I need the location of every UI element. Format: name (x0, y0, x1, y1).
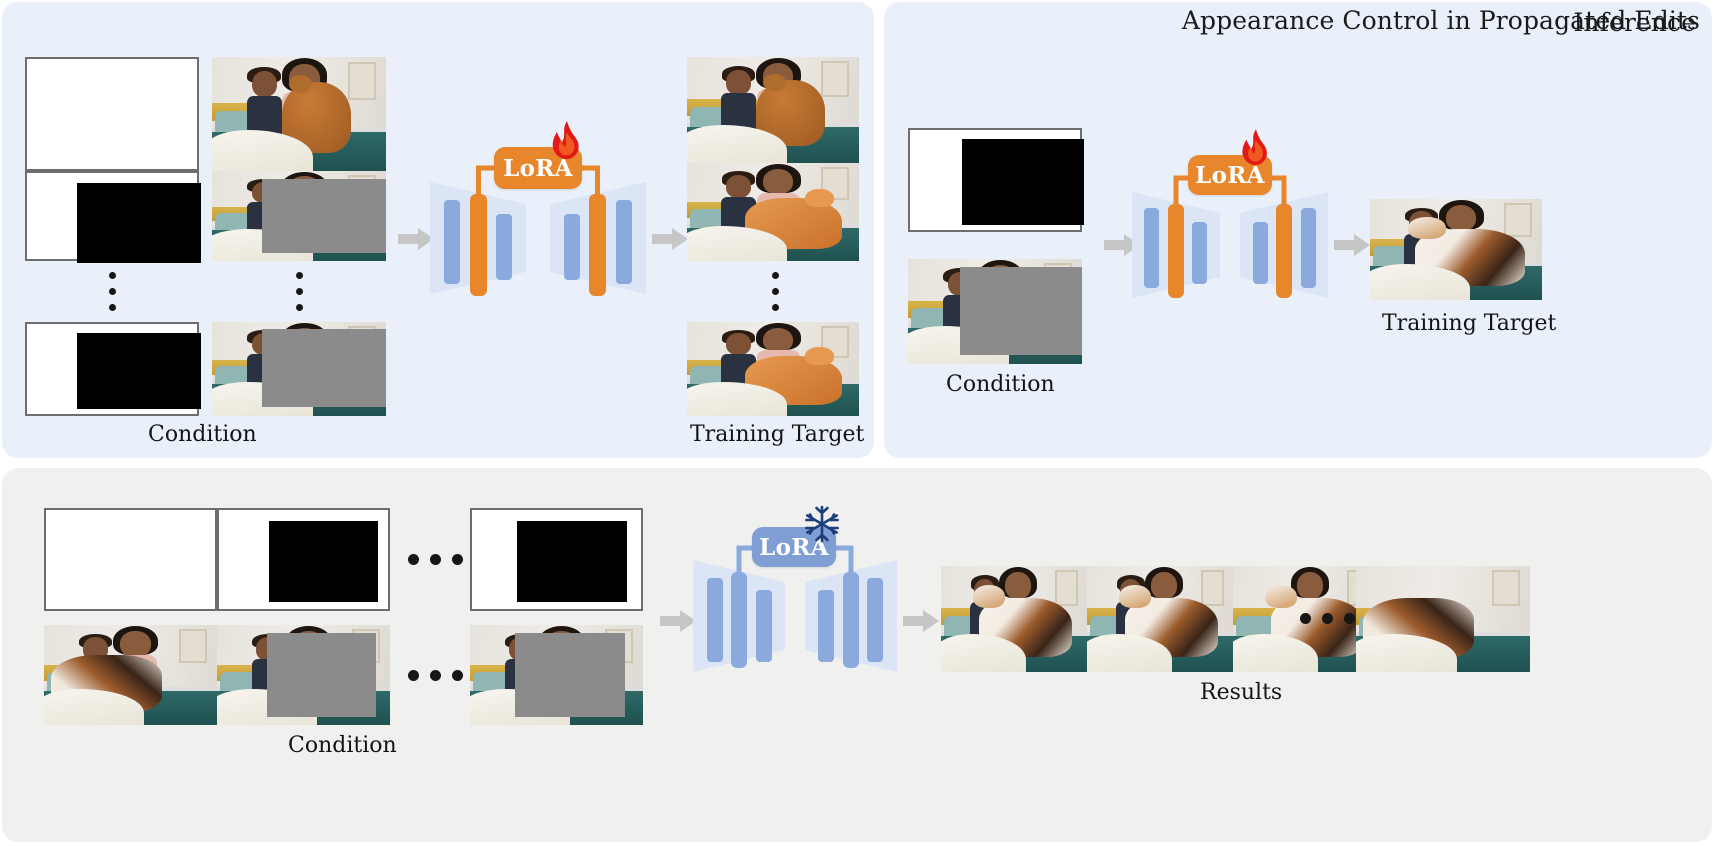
mask-frame-c3 (470, 508, 643, 611)
result-photo-4 (1356, 566, 1530, 672)
condition-photo-a2 (212, 171, 386, 261)
flow-arrow-b-out (1334, 234, 1370, 256)
mask-frame-c1 (44, 508, 217, 611)
caption-condition-c: Condition (288, 733, 397, 758)
masked-region-a2 (262, 179, 386, 253)
result-photo-2 (1087, 566, 1233, 672)
vertical-ellipsis-masks-a (109, 272, 116, 311)
condition-photo-c2 (217, 625, 390, 725)
horizontal-ellipsis-results (1300, 613, 1355, 624)
flow-arrow-a-out (652, 228, 688, 250)
target-photo-a1 (687, 57, 859, 163)
mask-region-c2 (269, 521, 378, 602)
condition-photo-b1 (908, 259, 1082, 364)
condition-photo-c1 (44, 625, 217, 725)
flow-arrow-c-out (903, 610, 939, 632)
figure-root: Disentangling Edits and Background (0, 0, 1714, 846)
panel-title-inference: Inference (1573, 8, 1696, 37)
horizontal-ellipsis-photos-c (408, 670, 463, 681)
horizontal-ellipsis-masks-c (408, 554, 463, 565)
vertical-ellipsis-targets-a (772, 272, 779, 311)
mask-frame-a2 (25, 171, 199, 261)
condition-photo-a1 (212, 57, 386, 171)
mask-frame-a3 (25, 322, 199, 416)
masked-region-b1 (960, 267, 1082, 355)
mask-region-a3 (77, 333, 201, 409)
lora-module-b[interactable]: LoRA (1188, 155, 1272, 195)
caption-target-a: Training Target (690, 422, 864, 447)
condition-photo-a3 (212, 322, 386, 416)
target-photo-b1 (1370, 199, 1542, 300)
masked-region-c2 (267, 633, 376, 717)
caption-condition-a: Condition (148, 422, 257, 447)
vertical-ellipsis-photos-a (296, 272, 303, 311)
caption-condition-b: Condition (946, 372, 1055, 397)
mask-frame-a1 (25, 57, 199, 171)
result-photo-1 (941, 566, 1087, 672)
masked-region-c3 (515, 633, 625, 717)
mask-region-b1 (962, 139, 1084, 225)
masked-region-a3 (262, 329, 386, 407)
flow-arrow-c-in (660, 610, 696, 632)
mask-region-c3 (517, 521, 627, 602)
lora-module-a[interactable]: LoRA (494, 147, 582, 189)
caption-results-c: Results (1200, 680, 1282, 705)
mask-region-a2 (77, 183, 201, 263)
mask-frame-b1 (908, 128, 1082, 232)
caption-target-b: Training Target (1382, 311, 1556, 336)
condition-photo-c3 (470, 625, 643, 725)
mask-frame-c2 (217, 508, 390, 611)
target-photo-a2 (687, 163, 859, 261)
flow-arrow-a-in (398, 228, 434, 250)
lora-module-c[interactable]: LoRA (752, 527, 836, 567)
target-photo-a3 (687, 322, 859, 416)
